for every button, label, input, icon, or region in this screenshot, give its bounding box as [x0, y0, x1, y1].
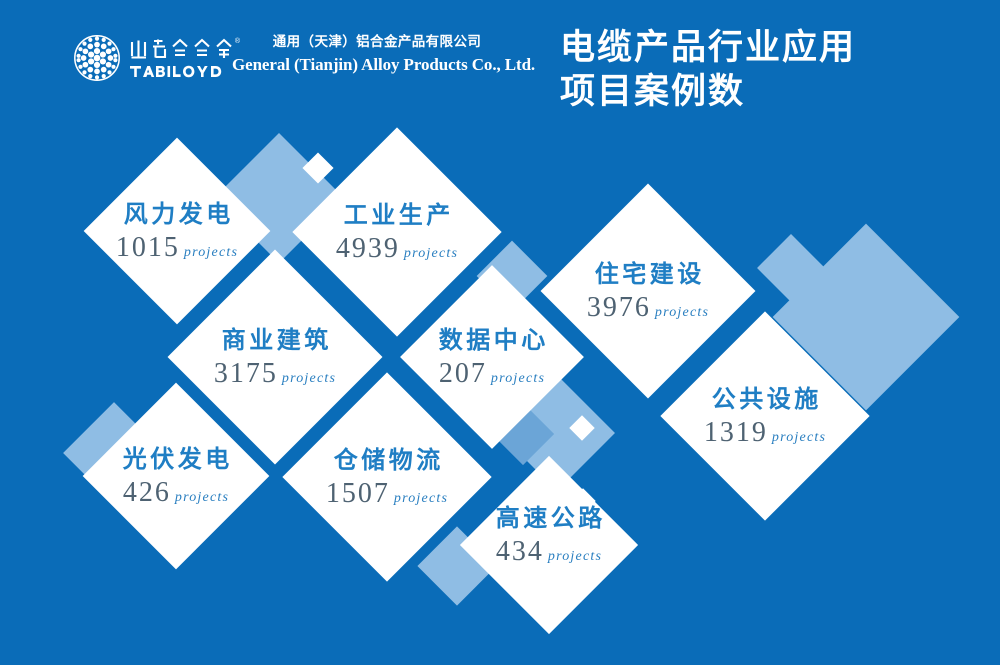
tile-label: 数据中心: [435, 326, 549, 354]
header: ®: [0, 0, 1000, 130]
tile-value: 1015 projects: [116, 233, 238, 263]
tile-number: 1015: [116, 233, 180, 263]
tile-unit: projects: [772, 430, 826, 446]
tile-label: 风力发电: [120, 200, 234, 228]
tile-highway[interactable]: 高速公路 434 projects: [460, 456, 638, 634]
tile-label: 高速公路: [492, 504, 606, 532]
tile-value: 426 projects: [123, 478, 229, 508]
brand-name-en: [129, 64, 233, 78]
tile-label: 仓储物流: [330, 446, 444, 474]
tile-number: 207: [439, 359, 487, 389]
brand-name-cn: ®: [129, 38, 233, 62]
tile-unit: projects: [175, 490, 229, 506]
tile-unit: projects: [548, 549, 602, 565]
tile-label: 工业生产: [340, 201, 454, 229]
tile-label: 光伏发电: [119, 445, 233, 473]
tile-unit: projects: [655, 305, 709, 321]
company-name: 通用（天津）铝合金产品有限公司 General (Tianjin) Alloy …: [232, 33, 522, 77]
tile-number: 4939: [336, 234, 400, 264]
tile-unit: projects: [184, 245, 238, 261]
tile-number: 3175: [214, 359, 278, 389]
tile-unit: projects: [394, 491, 448, 507]
company-name-cn: 通用（天津）铝合金产品有限公司: [232, 33, 522, 51]
tile-value: 1319 projects: [704, 418, 826, 448]
page-title-line2: 项目案例数: [560, 70, 856, 114]
tile-label: 商业建筑: [218, 326, 332, 354]
tile-number: 1319: [704, 418, 768, 448]
page-title: 电缆产品行业应用 项目案例数: [560, 26, 856, 114]
tile-unit: projects: [491, 371, 545, 387]
tile-number: 434: [496, 537, 544, 567]
tile-label: 公共设施: [708, 385, 822, 413]
stranded-cable-circle-icon: [74, 35, 120, 81]
brand-wordmark: ®: [129, 38, 233, 78]
tile-value: 3976 projects: [587, 293, 709, 323]
tile-value: 207 projects: [439, 359, 545, 389]
tile-value: 434 projects: [496, 537, 602, 567]
tile-number: 3976: [587, 293, 651, 323]
page-title-line1: 电缆产品行业应用: [560, 26, 856, 70]
tile-value: 4939 projects: [336, 234, 458, 264]
tile-label: 住宅建设: [591, 260, 705, 288]
tile-value: 3175 projects: [214, 359, 336, 389]
tile-number: 426: [123, 478, 171, 508]
tile-number: 1507: [326, 479, 390, 509]
tile-unit: projects: [404, 246, 458, 262]
tile-unit: projects: [282, 371, 336, 387]
tile-value: 1507 projects: [326, 479, 448, 509]
company-name-en: General (Tianjin) Alloy Products Co., Lt…: [232, 53, 522, 77]
infographic-canvas: ®: [0, 0, 1000, 665]
